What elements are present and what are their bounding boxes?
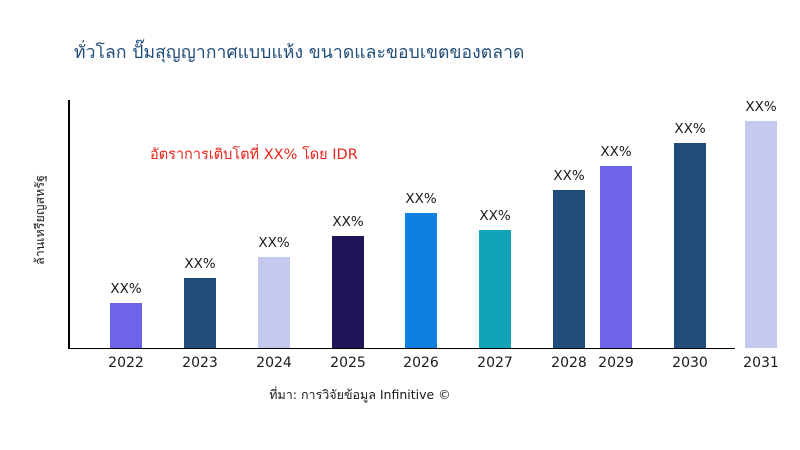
bar-2025[interactable] [332, 236, 364, 348]
bar-2031[interactable] [745, 121, 777, 348]
bar-2022[interactable] [110, 303, 142, 348]
bar-value-label-2030: XX% [660, 121, 720, 137]
source-caption: ที่มา: การวิจัยข้อมูล Infinitive © [0, 385, 720, 405]
bar-2027[interactable] [479, 230, 511, 348]
bar-value-label-2028: XX% [539, 168, 599, 184]
bar-value-label-2031: XX% [731, 99, 791, 115]
bar-2024[interactable] [258, 257, 290, 348]
x-tick-label-2027: 2027 [463, 355, 527, 371]
bar-2029[interactable] [600, 166, 632, 348]
bar-2030[interactable] [674, 143, 706, 348]
bar-2028[interactable] [553, 190, 585, 348]
x-tick-label-2030: 2030 [658, 355, 722, 371]
bar-value-label-2025: XX% [318, 214, 378, 230]
bar-value-label-2029: XX% [586, 144, 646, 160]
x-tick-label-2024: 2024 [242, 355, 306, 371]
bar-value-label-2023: XX% [170, 256, 230, 272]
bar-value-label-2026: XX% [391, 191, 451, 207]
plot-area: XX%2022XX%2023XX%2024XX%2025XX%2026XX%20… [0, 0, 800, 450]
growth-rate-annotation: อัตราการเติบโตที่ XX% โดย IDR [150, 143, 358, 166]
x-tick-label-2029: 2029 [584, 355, 648, 371]
market-size-bar-chart: ทั่วโลก ปั๊มสุญญากาศแบบแห้ง ขนาดและขอบเข… [0, 0, 800, 450]
bar-2023[interactable] [184, 278, 216, 348]
bar-value-label-2022: XX% [96, 281, 156, 297]
x-tick-label-2031: 2031 [729, 355, 793, 371]
bar-value-label-2024: XX% [244, 235, 304, 251]
x-tick-label-2023: 2023 [168, 355, 232, 371]
x-tick-label-2026: 2026 [389, 355, 453, 371]
x-tick-label-2022: 2022 [94, 355, 158, 371]
bar-value-label-2027: XX% [465, 208, 525, 224]
x-tick-label-2025: 2025 [316, 355, 380, 371]
bar-2026[interactable] [405, 213, 437, 348]
